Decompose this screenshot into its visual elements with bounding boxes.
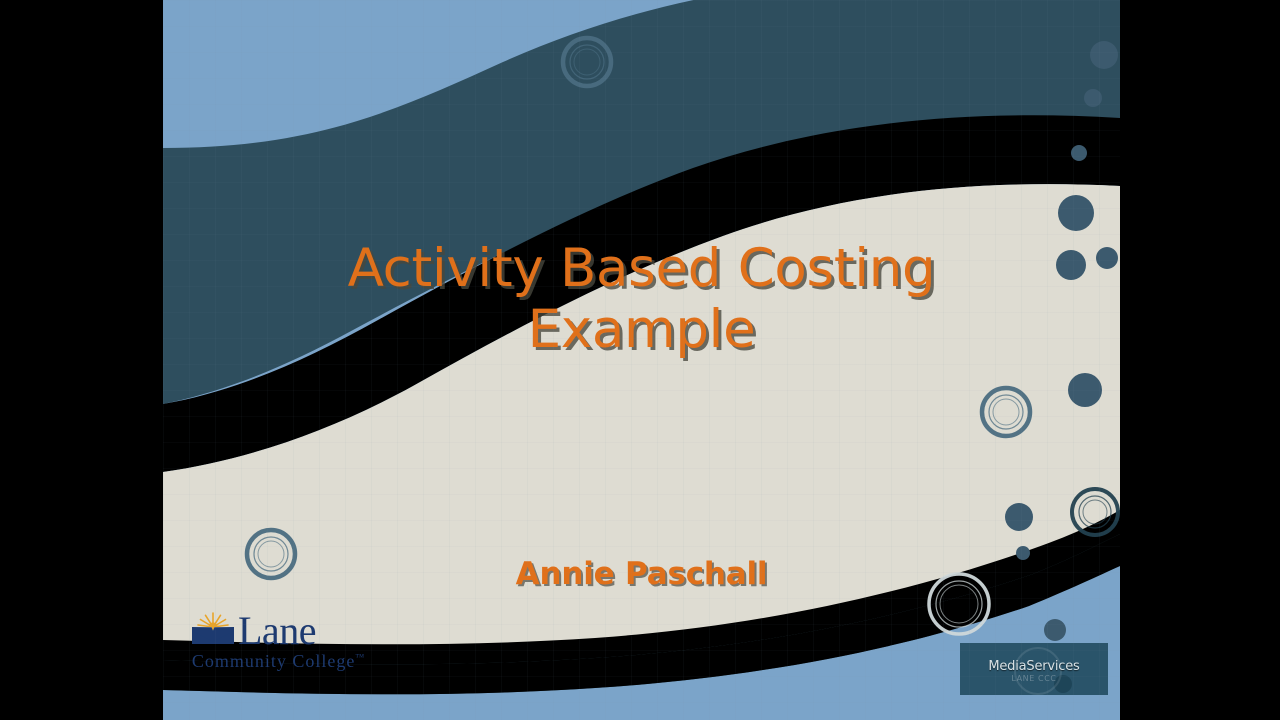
trademark-icon: ™ [355, 652, 364, 662]
logo-subtext: Community College™ [173, 651, 383, 672]
open-book-sunburst-icon [190, 610, 236, 650]
decorative-dot [1071, 145, 1087, 161]
decorative-dot [1084, 89, 1102, 107]
lane-community-college-logo: Lane Community College™ [173, 608, 383, 672]
letterbox-bar-left [0, 0, 163, 720]
video-frame: Activity Based Costing Example Annie Pas… [0, 0, 1280, 720]
decorative-dot [1058, 195, 1094, 231]
watermark-subtext: LANE CCC [960, 674, 1108, 683]
title-line-1: Activity Based Costing [163, 238, 1120, 299]
mediaservices-watermark: MediaServices LANE CCC [960, 643, 1108, 695]
decorative-dot [1081, 397, 1089, 405]
decorative-dot [1044, 619, 1066, 641]
title-line-2: Example [163, 299, 1120, 360]
logo-wordmark: Lane [238, 612, 316, 650]
presenter-name: Annie Paschall [163, 556, 1120, 592]
logo-subtext-label: Community College [192, 651, 356, 671]
decorative-dot [1005, 503, 1033, 531]
slide-title: Activity Based Costing Example [163, 238, 1120, 361]
presentation-slide: Activity Based Costing Example Annie Pas… [163, 0, 1120, 720]
slide-subtitle: Annie Paschall [163, 556, 1120, 592]
letterbox-bar-right [1120, 0, 1280, 720]
decorative-dot [1090, 41, 1118, 69]
watermark-text: MediaServices [960, 659, 1108, 674]
